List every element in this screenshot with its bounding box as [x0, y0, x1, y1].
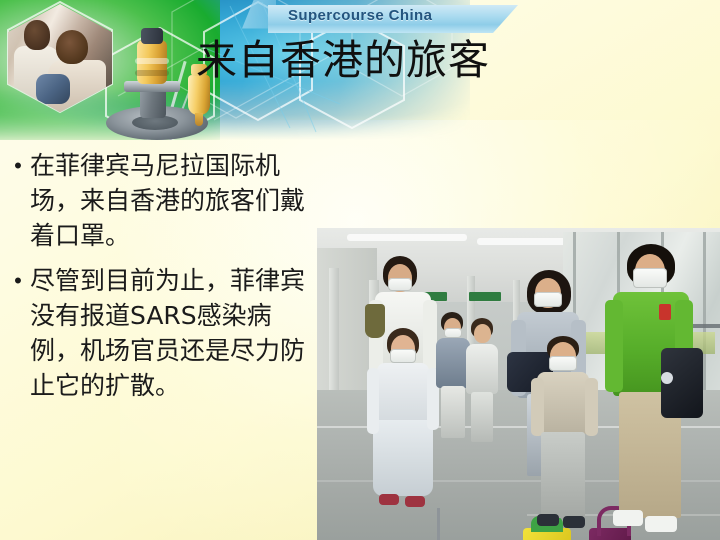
presentation-slide: Supercourse China 来自香港的旅客 • 在菲律宾马尼拉国际机场，…: [0, 0, 720, 540]
list-item: • 尽管到目前为止，菲律宾没有报道SARS感染病例，机场官员还是尽力防止它的扩散…: [6, 263, 306, 403]
traveler-woman-green: [605, 244, 697, 540]
traveler-distant-b: [463, 318, 501, 444]
traveler-girl: [369, 328, 441, 518]
bullet-marker: •: [6, 148, 30, 184]
bullet-list: • 在菲律宾马尼拉国际机场，来自香港的旅客们戴着口罩。 • 尽管到目前为止，菲律…: [6, 148, 306, 413]
direction-sign: [469, 292, 501, 301]
bullet-text: 尽管到目前为止，菲律宾没有报道SARS感染病例，机场官员还是尽力防止它的扩散。: [30, 263, 306, 403]
traveler-boy: [533, 336, 597, 532]
banner-title: Supercourse China: [288, 7, 432, 24]
airport-travelers-photo: [317, 228, 720, 540]
bullet-text: 在菲律宾马尼拉国际机场，来自香港的旅客们戴着口罩。: [30, 148, 306, 253]
suitcase-handle: [437, 508, 440, 540]
bullet-marker: •: [6, 263, 30, 299]
ceiling-beam: [347, 234, 467, 241]
list-item: • 在菲律宾马尼拉国际机场，来自香港的旅客们戴着口罩。: [6, 148, 306, 253]
page-title: 来自香港的旅客: [196, 38, 616, 84]
wristwatch: [661, 372, 673, 384]
shirt-emblem: [659, 304, 671, 320]
